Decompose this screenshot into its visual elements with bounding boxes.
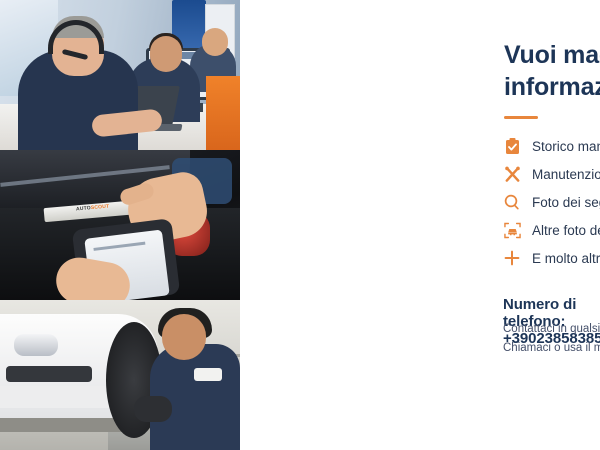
content-panel: Vuoi maggiori informazioni su ? Saremo f… bbox=[240, 0, 600, 450]
car-inspection-photo: AUTOSCOUT bbox=[0, 150, 240, 300]
headline-line-2: informazioni su ? bbox=[504, 72, 600, 104]
clipboard-check-icon bbox=[502, 136, 522, 156]
promo-banner: AUTOSCOUT Vuoi maggio bbox=[0, 0, 600, 450]
feature-item-more: E molto altro ancora bbox=[502, 244, 600, 272]
feature-item-maintenance-done: Manutenzioni effettuate bbox=[502, 160, 600, 188]
car-focus-icon bbox=[502, 220, 522, 240]
page-title: Vuoi maggiori informazioni su ? bbox=[504, 40, 600, 103]
feature-item-service-history: Storico manutentivo bbox=[502, 132, 600, 160]
contact-description: Contattaci in qualsiasi momento per ulte… bbox=[503, 320, 600, 357]
feature-label: Altre foto del veicolo bbox=[532, 223, 600, 238]
feature-list: Storico manutentivo Manutenzioni effettu… bbox=[502, 132, 600, 272]
feature-label: Manutenzioni effettuate bbox=[532, 167, 600, 182]
headline-line-1: Vuoi maggiori bbox=[504, 40, 600, 72]
feature-label: Foto dei segni di usura bbox=[532, 195, 600, 210]
call-center-agents-photo bbox=[0, 0, 240, 150]
feature-label: Storico manutentivo bbox=[532, 139, 600, 154]
title-divider bbox=[504, 116, 538, 119]
plus-icon bbox=[502, 248, 522, 268]
crossed-tools-icon bbox=[502, 164, 522, 184]
feature-item-vehicle-photos: Altre foto del veicolo bbox=[502, 216, 600, 244]
feature-label: E molto altro ancora bbox=[532, 251, 600, 266]
feature-item-wear-photos: Foto dei segni di usura bbox=[502, 188, 600, 216]
garage-mechanic-photo bbox=[0, 300, 240, 450]
photo-collage: AUTOSCOUT bbox=[0, 0, 240, 450]
magnifier-icon bbox=[502, 192, 522, 212]
